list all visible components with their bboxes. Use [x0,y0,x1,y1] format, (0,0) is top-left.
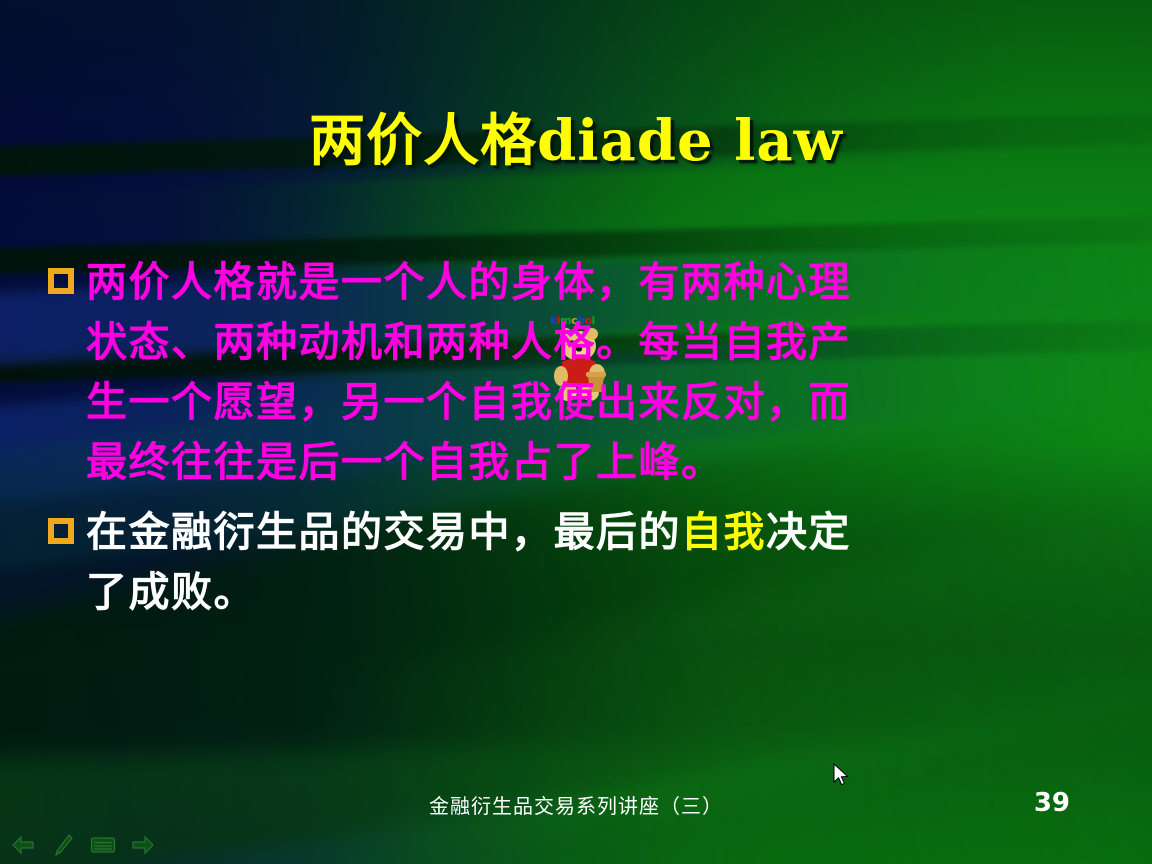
page-number: 39 [1034,788,1070,818]
bullet-item-1: 两价人格就是一个人的身体，有两种心理 状态、两种动机和两种人格。每当自我产 生一… [48,252,1048,492]
bullet-2-line-1: 在金融衍生品的交易中，最后的自我决定 [86,502,1048,562]
bullet-2-line-1-part-3: 决定 [766,508,851,556]
pen-icon [53,834,73,856]
bullet-1-line-2: 状态、两种动机和两种人格。每当自我产 [86,312,1048,372]
slideshow-toolbar [10,834,156,856]
screen-icon [90,835,116,855]
bullet-1-line-1: 两价人格就是一个人的身体，有两种心理 [86,252,1048,312]
square-bullet-icon [48,268,74,294]
page-title: 两价人格diade law [309,112,843,171]
title-area: 两价人格diade law [0,112,1152,171]
pen-annotation-button[interactable] [50,834,76,856]
presentation-slide: 两价人格diade law kimchoi eat [0,0,1152,864]
previous-slide-button[interactable] [10,834,36,856]
footer-text: 金融衍生品交易系列讲座（三） [0,790,1152,819]
bullet-2-line-2: 了成败。 [86,562,1048,622]
bullet-2-line-1-part-1: 在金融衍生品的交易中，最后的 [86,508,681,556]
bullet-1-text: 两价人格就是一个人的身体，有两种心理 状态、两种动机和两种人格。每当自我产 生一… [86,252,1048,492]
bullet-1-line-3: 生一个愿望，另一个自我便出来反对，而 [86,372,1048,432]
slide-menu-button[interactable] [90,834,116,856]
slide-body: 两价人格就是一个人的身体，有两种心理 状态、两种动机和两种人格。每当自我产 生一… [48,252,1048,622]
bullet-1-line-4: 最终往往是后一个自我占了上峰。 [86,432,1048,492]
square-bullet-icon [48,518,74,544]
next-slide-button[interactable] [130,834,156,856]
bullet-2-highlight: 自我 [681,508,766,556]
bullet-item-2: 在金融衍生品的交易中，最后的自我决定 了成败。 [48,502,1048,622]
bullet-2-text: 在金融衍生品的交易中，最后的自我决定 了成败。 [86,502,1048,622]
right-arrow-icon [131,835,155,855]
left-arrow-icon [11,835,35,855]
